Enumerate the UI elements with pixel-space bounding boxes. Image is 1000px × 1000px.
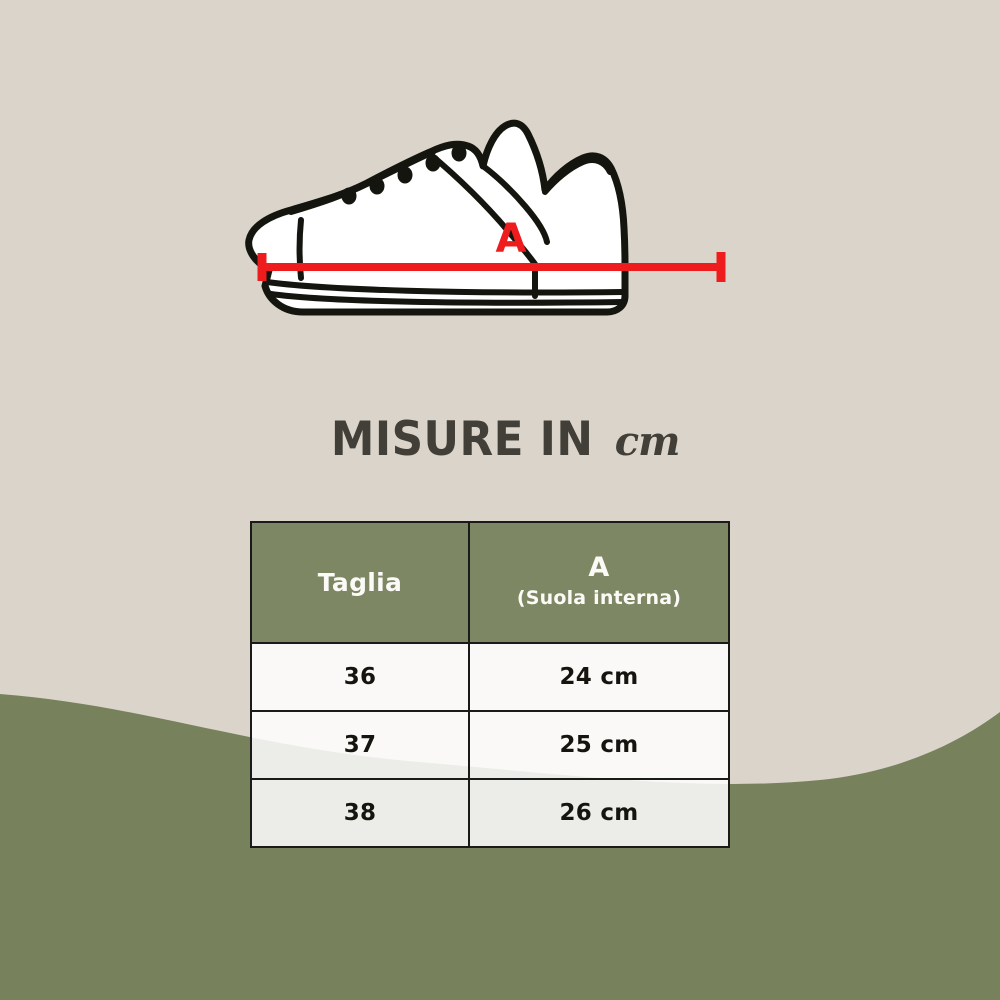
header-label-measure-sub: (Suola interna) — [470, 586, 728, 611]
size-table-head: Taglia A (Suola interna) — [251, 522, 729, 643]
size-table-body: 36 24 cm 37 25 cm 38 26 cm — [251, 643, 729, 847]
table-row: 38 26 cm — [251, 779, 729, 847]
header-label-size: Taglia — [252, 568, 468, 597]
eyelet-2 — [370, 178, 385, 195]
header-cell-measure: A (Suola interna) — [469, 522, 729, 643]
eyelet-1 — [342, 188, 357, 205]
cell-measure: 25 cm — [469, 711, 729, 779]
cell-measure: 26 cm — [469, 779, 729, 847]
size-table: Taglia A (Suola interna) 36 24 cm 37 25 … — [250, 521, 730, 848]
cell-measure: 24 cm — [469, 643, 729, 711]
eyelet-5 — [452, 145, 467, 162]
page-title: MISURE INcm — [0, 412, 1000, 467]
header-label-measure-main: A — [470, 554, 728, 582]
size-chart-canvas: A MISURE INcm Taglia A (Suola interna) 3… — [0, 0, 1000, 1000]
cell-size: 37 — [251, 711, 469, 779]
sneaker-svg: A — [225, 100, 755, 345]
cell-size: 38 — [251, 779, 469, 847]
sneaker-illustration: A — [225, 100, 755, 345]
measurement-label-a: A — [496, 216, 527, 262]
cell-size: 36 — [251, 643, 469, 711]
table-row: 36 24 cm — [251, 643, 729, 711]
page-title-main: MISURE IN — [330, 412, 593, 467]
table-header-row: Taglia A (Suola interna) — [251, 522, 729, 643]
table-row: 37 25 cm — [251, 711, 729, 779]
header-cell-size: Taglia — [251, 522, 469, 643]
eyelet-3 — [398, 167, 413, 184]
page-title-unit: cm — [615, 418, 680, 465]
eyelet-4 — [426, 155, 441, 172]
